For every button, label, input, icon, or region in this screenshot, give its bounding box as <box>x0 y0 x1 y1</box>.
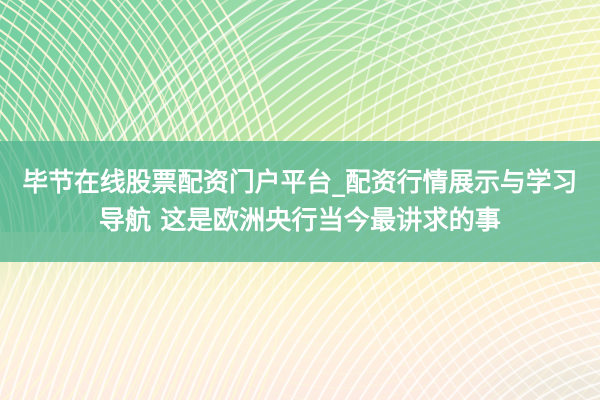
headline-text-block: 毕节在线股票配资门户平台_配资行情展示与学习 导航 这是欧洲央行当今最讲求的事 <box>0 141 600 262</box>
banner-image: 毕节在线股票配资门户平台_配资行情展示与学习 导航 这是欧洲央行当今最讲求的事 <box>0 0 600 400</box>
headline-line-1: 毕节在线股票配资门户平台_配资行情展示与学习 <box>16 164 583 202</box>
headline-line-2: 导航 这是欧洲央行当今最讲求的事 <box>12 202 588 240</box>
